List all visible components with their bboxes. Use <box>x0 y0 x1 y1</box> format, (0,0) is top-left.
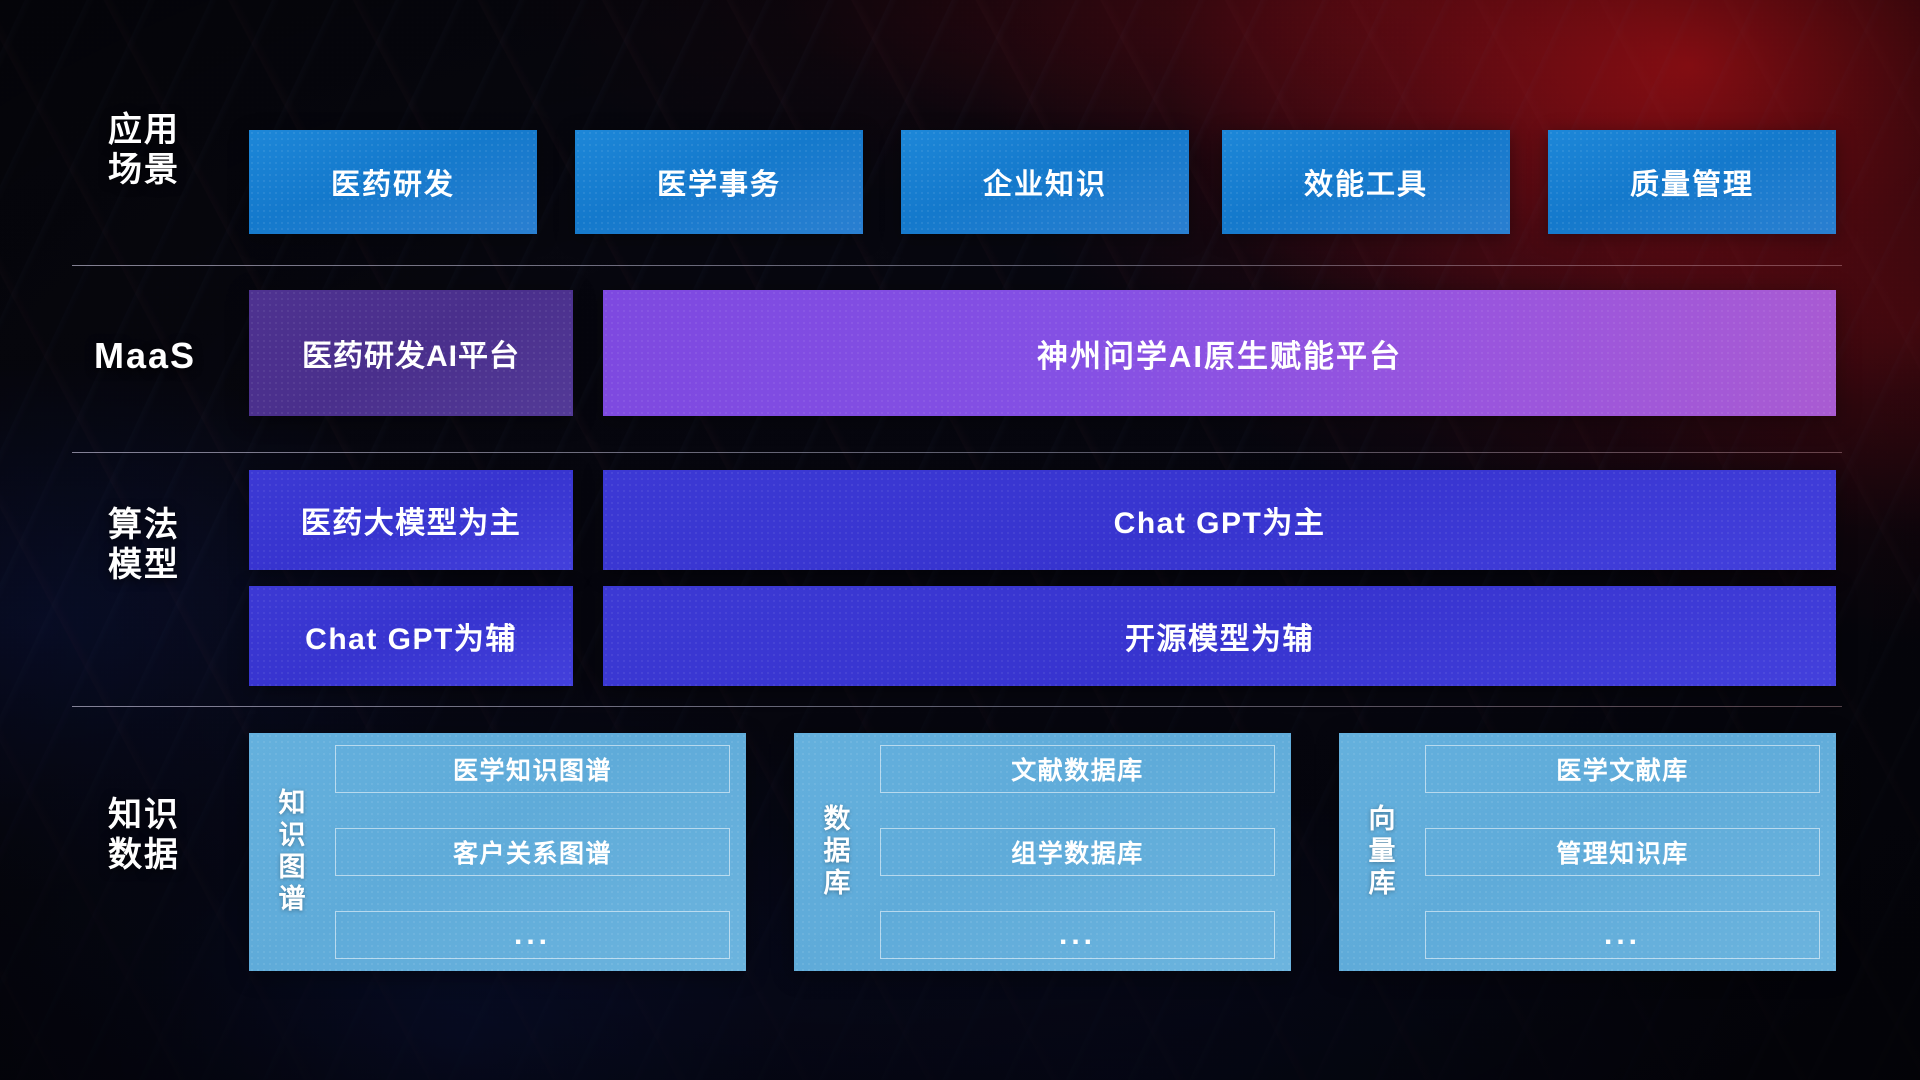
row-label-line: MaaS <box>72 335 218 377</box>
knowledge-item-more[interactable]: ... <box>880 911 1275 959</box>
row-label-line: 模型 <box>84 545 204 585</box>
knowledge-group-vector-title: 向量库 <box>1353 745 1411 959</box>
app-scenario-label: 效能工具 <box>1304 161 1428 203</box>
knowledge-group-graph-title: 知识图谱 <box>263 745 321 959</box>
algo-box-secondary-left[interactable]: Chat GPT为辅 <box>249 586 573 686</box>
maas-platform-pharma[interactable]: 医药研发AI平台 <box>249 290 573 416</box>
app-scenario-label: 质量管理 <box>1630 161 1754 203</box>
algo-box-label: 开源模型为辅 <box>1125 614 1314 658</box>
architecture-diagram: 应用 场景 医药研发 医学事务 企业知识 效能工具 质量管理 MaaS 医药研发… <box>0 0 1920 1080</box>
knowledge-item[interactable]: 医学知识图谱 <box>335 745 730 793</box>
knowledge-group-database-items: 文献数据库 组学数据库 ... <box>880 745 1275 959</box>
app-scenario-label: 医药研发 <box>331 161 455 203</box>
knowledge-item[interactable]: 客户关系图谱 <box>335 828 730 876</box>
row-divider-3 <box>72 706 1842 707</box>
row-label-line: 算法 <box>84 505 204 545</box>
knowledge-item[interactable]: 组学数据库 <box>880 828 1275 876</box>
knowledge-group-database-title: 数据库 <box>808 745 866 959</box>
maas-platform-shenzhou-label: 神州问学AI原生赋能平台 <box>1037 331 1402 376</box>
row-divider-2 <box>72 452 1842 453</box>
algo-box-primary-right[interactable]: Chat GPT为主 <box>603 470 1836 570</box>
app-scenario-label: 医学事务 <box>657 161 781 203</box>
row-divider-1 <box>72 265 1842 266</box>
knowledge-group-vector[interactable]: 向量库 医学文献库 管理知识库 ... <box>1339 733 1836 971</box>
row-label-line: 场景 <box>84 150 204 190</box>
knowledge-item-more[interactable]: ... <box>1425 911 1820 959</box>
knowledge-item[interactable]: 管理知识库 <box>1425 828 1820 876</box>
maas-platform-pharma-label: 医药研发AI平台 <box>302 331 520 375</box>
knowledge-item[interactable]: 文献数据库 <box>880 745 1275 793</box>
algo-box-label: 医药大模型为主 <box>301 498 522 542</box>
algo-box-label: Chat GPT为主 <box>1114 498 1326 542</box>
knowledge-group-database[interactable]: 数据库 文献数据库 组学数据库 ... <box>794 733 1291 971</box>
row-label-knowledge-data: 知识 数据 <box>84 795 204 875</box>
knowledge-group-graph[interactable]: 知识图谱 医学知识图谱 客户关系图谱 ... <box>249 733 746 971</box>
knowledge-group-graph-items: 医学知识图谱 客户关系图谱 ... <box>335 745 730 959</box>
maas-platform-shenzhou[interactable]: 神州问学AI原生赋能平台 <box>603 290 1836 416</box>
app-scenario-box-2[interactable]: 医学事务 <box>575 130 863 234</box>
app-scenario-box-1[interactable]: 医药研发 <box>249 130 537 234</box>
row-label-application-scenario: 应用 场景 <box>84 110 204 190</box>
knowledge-group-vector-items: 医学文献库 管理知识库 ... <box>1425 745 1820 959</box>
app-scenario-box-3[interactable]: 企业知识 <box>901 130 1189 234</box>
algo-box-primary-left[interactable]: 医药大模型为主 <box>249 470 573 570</box>
app-scenario-box-4[interactable]: 效能工具 <box>1222 130 1510 234</box>
row-label-line: 知识 <box>84 795 204 835</box>
row-label-maas: MaaS <box>72 335 218 377</box>
knowledge-item[interactable]: 医学文献库 <box>1425 745 1820 793</box>
row-label-line: 应用 <box>84 110 204 150</box>
algo-box-secondary-right[interactable]: 开源模型为辅 <box>603 586 1836 686</box>
row-label-line: 数据 <box>84 835 204 875</box>
row-label-algorithm-model: 算法 模型 <box>84 505 204 585</box>
app-scenario-box-5[interactable]: 质量管理 <box>1548 130 1836 234</box>
knowledge-item-more[interactable]: ... <box>335 911 730 959</box>
app-scenario-label: 企业知识 <box>983 161 1107 203</box>
algo-box-label: Chat GPT为辅 <box>305 614 517 658</box>
